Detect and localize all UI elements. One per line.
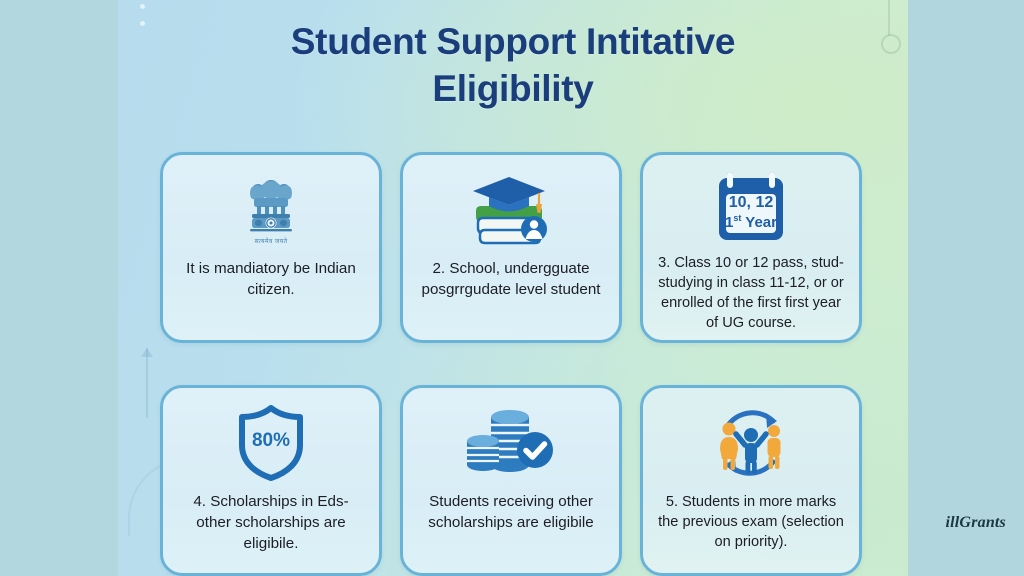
eligibility-card-2[interactable]: 2. School, undergguate posgrrgudate leve… xyxy=(400,152,622,343)
card-5-text: Students receiving other scholarships ar… xyxy=(413,492,609,534)
people-cycle-icon xyxy=(707,402,795,484)
card-1-text: It is mandiatory be Indian citizen. xyxy=(173,259,369,301)
shield-percent-icon: 80% xyxy=(234,402,308,484)
slide-content: Student Support Intitative Eligibility xyxy=(118,0,908,576)
left-rail xyxy=(0,0,118,576)
calendar-year-suffix: st xyxy=(733,213,741,223)
eligibility-card-3[interactable]: 10, 12 1st Year 3. Class 10 or 12 pass, … xyxy=(640,152,862,343)
coins-check-icon xyxy=(465,402,557,484)
calendar-line-1: 10, 12 xyxy=(711,195,791,212)
title-line-1: Student Support Intitative xyxy=(291,21,735,62)
eligibility-card-4[interactable]: 80% 4. Scholarships in Eds-other scholar… xyxy=(160,385,382,576)
eligibility-card-5[interactable]: Students receiving other scholarships ar… xyxy=(400,385,622,576)
card-2-text: 2. School, undergguate posgrrgudate leve… xyxy=(413,259,609,301)
decorative-arrow-icon xyxy=(146,348,148,418)
card-4-text: 4. Scholarships in Eds-other scholarship… xyxy=(173,492,369,555)
shield-percent-label: 80% xyxy=(234,430,308,452)
india-national-emblem-icon: सत्यमेव जयते xyxy=(244,169,298,251)
watermark: illGrants xyxy=(946,514,1007,532)
eligibility-card-1[interactable]: सत्यमेव जयते It is mandiatory be Indian … xyxy=(160,152,382,343)
page-title: Student Support Intitative Eligibility xyxy=(118,18,908,113)
emblem-caption: सत्यमेव जयते xyxy=(255,237,288,245)
right-rail xyxy=(908,0,1024,576)
slide-canvas: Student Support Intitative Eligibility xyxy=(0,0,1024,576)
eligibility-card-6[interactable]: 5. Students in more marks the previous e… xyxy=(640,385,862,576)
graduation-cap-books-icon xyxy=(469,169,553,251)
calendar-icon: 10, 12 1st Year xyxy=(711,169,791,245)
card-6-text: 5. Students in more marks the previous e… xyxy=(653,492,849,552)
calendar-year-word: Year xyxy=(745,214,777,231)
card-3-text: 3. Class 10 or 12 pass, stud-studying in… xyxy=(653,253,849,334)
eligibility-card-grid: सत्यमेव जयते It is mandiatory be Indian … xyxy=(160,152,866,576)
title-line-2: Eligibility xyxy=(118,65,908,112)
